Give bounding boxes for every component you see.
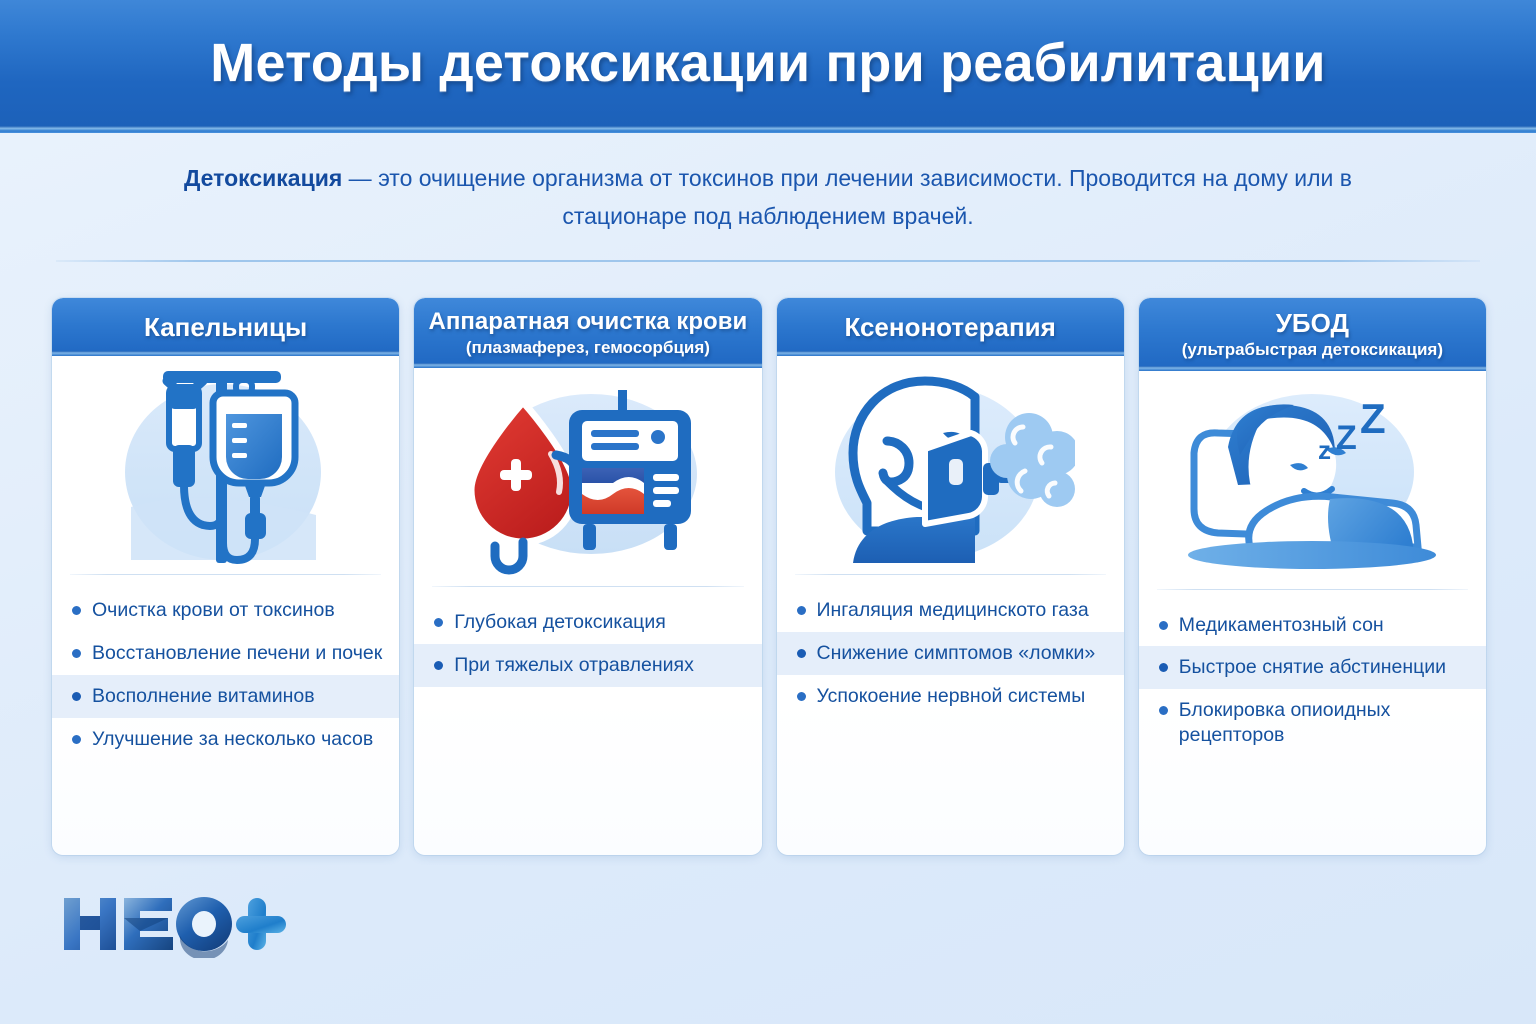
card-title: УБОД: [1276, 309, 1349, 338]
list-item: Блокировка опиоидных рецепторов: [1139, 689, 1486, 757]
list-item: Глубокая детоксикация: [414, 601, 761, 644]
svg-text:Z: Z: [1360, 395, 1386, 442]
list-item: Очистка крови от токсинов: [52, 589, 399, 632]
xenon-inhalation-icon: [777, 356, 1124, 574]
list-item: Быстрое снятие абстиненции: [1139, 646, 1486, 689]
bullet-dot: [72, 692, 81, 701]
bullet-text: Восполнение витаминов: [92, 684, 315, 709]
infographic-poster: Методы детоксикации при реабилитации Дет…: [0, 0, 1536, 1024]
card-kapelnicy[interactable]: Капельницы: [52, 298, 399, 855]
intro-lead: Детоксикация: [184, 165, 342, 191]
intro-paragraph: Детоксикация — это очищение организма от…: [178, 160, 1358, 236]
card-title: Аппаратная очистка крови: [429, 309, 748, 336]
bullet-text: Ингаляция медицинското газа: [817, 598, 1089, 623]
card-bullet-list: Очистка крови от токсинов Восстановление…: [52, 575, 399, 855]
bullet-dot: [797, 692, 806, 701]
bullet-dot: [1159, 706, 1168, 715]
bullet-dot: [797, 606, 806, 615]
card-bullet-list: Ингаляция медицинското газа Снижение сим…: [777, 575, 1124, 855]
bullet-text: Успокоение нервной системы: [817, 684, 1086, 709]
card-ubod[interactable]: УБОД (ультрабыстрая детоксикация): [1139, 298, 1486, 855]
bullet-text: При тяжелых отравлениях: [454, 653, 694, 678]
intro-rest: — это очищение организма от токсинов при…: [342, 165, 1352, 229]
list-item: Восстановление печени и почек: [52, 632, 399, 675]
bullet-dot: [1159, 663, 1168, 672]
list-item: Снижение симптомов «ломки»: [777, 632, 1124, 675]
brand-logo: [62, 888, 294, 958]
bullet-text: Улучшение за несколько часов: [92, 727, 373, 752]
card-header: УБОД (ультрабыстрая детоксикация): [1139, 298, 1486, 371]
bullet-text: Очистка крови от токсинов: [92, 598, 335, 623]
bullet-dot: [797, 649, 806, 658]
card-apparatnaya-ochistka-krovi[interactable]: Аппаратная очистка крови (плазмаферез, г…: [414, 298, 761, 855]
bullet-dot: [72, 735, 81, 744]
bullet-dot: [1159, 621, 1168, 630]
bullet-text: Снижение симптомов «ломки»: [817, 641, 1096, 666]
card-title: Капельницы: [144, 313, 307, 342]
bullet-text: Восстановление печени и почек: [92, 641, 382, 666]
card-subtitle: (ультрабыстрая детоксикация): [1182, 340, 1443, 360]
list-item: Медикаментозный сон: [1139, 604, 1486, 647]
bullet-text: Блокировка опиоидных рецепторов: [1179, 698, 1470, 748]
sedated-sleep-icon: z Z Z: [1139, 371, 1486, 589]
list-item: Восполнение витаминов: [52, 675, 399, 718]
bullet-text: Медикаментозный сон: [1179, 613, 1384, 638]
list-item: Улучшение за несколько часов: [52, 718, 399, 761]
bullet-dot: [72, 649, 81, 658]
section-divider: [56, 260, 1480, 262]
method-cards: Капельницы: [52, 298, 1486, 855]
bullet-dot: [434, 661, 443, 670]
card-bullet-list: Медикаментозный сон Быстрое снятие абсти…: [1139, 590, 1486, 856]
card-bullet-list: Глубокая детоксикация При тяжелых отравл…: [414, 587, 761, 855]
card-title: Ксенонотерапия: [844, 313, 1055, 342]
list-item: При тяжелых отравлениях: [414, 644, 761, 687]
bullet-dot: [72, 606, 81, 615]
bullet-text: Глубокая детоксикация: [454, 610, 666, 635]
page-title: Методы детоксикации при реабилитации: [0, 0, 1536, 126]
iv-drip-icon: [52, 356, 399, 574]
card-subtitle: (плазмаферез, гемосорбция): [466, 338, 710, 358]
list-item: Ингаляция медицинското газа: [777, 589, 1124, 632]
card-header: Ксенонотерапия: [777, 298, 1124, 356]
blood-purification-icon: [414, 368, 761, 586]
card-header: Аппаратная очистка крови (плазмаферез, г…: [414, 298, 761, 368]
svg-text:Z: Z: [1336, 419, 1357, 457]
card-ksenonoterapiya[interactable]: Ксенонотерапия: [777, 298, 1124, 855]
card-header: Капельницы: [52, 298, 399, 356]
bullet-text: Быстрое снятие абстиненции: [1179, 655, 1446, 680]
bullet-dot: [434, 618, 443, 627]
svg-text:z: z: [1318, 435, 1331, 465]
list-item: Успокоение нервной системы: [777, 675, 1124, 718]
